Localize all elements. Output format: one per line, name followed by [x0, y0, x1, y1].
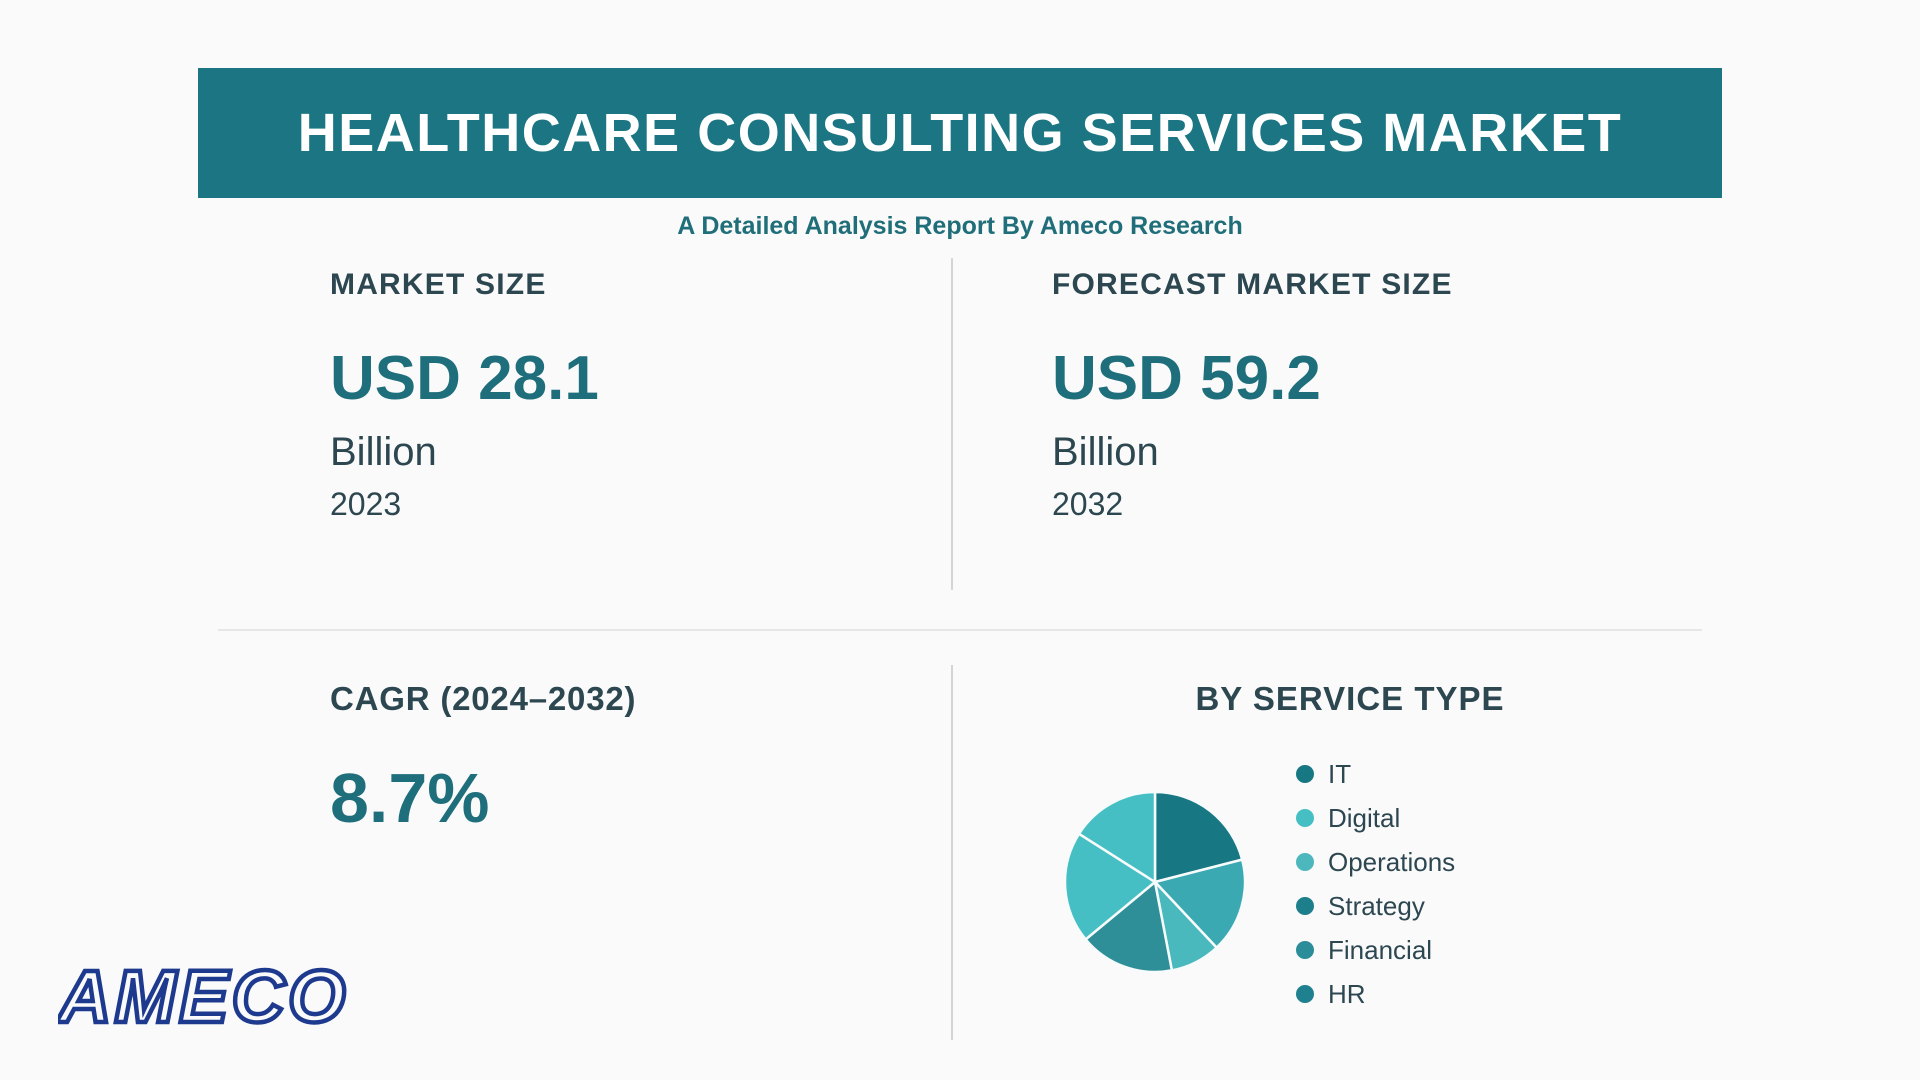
vertical-divider-bottom — [951, 665, 953, 1040]
legend-color-dot-icon — [1296, 985, 1314, 1003]
legend-color-dot-icon — [1296, 809, 1314, 827]
legend-item: HR — [1296, 976, 1455, 1012]
forecast-market-size-value: USD 59.2 — [1052, 348, 1672, 410]
stat-forecast-market-size: FORECAST MARKET SIZE USD 59.2 Billion 20… — [1052, 268, 1672, 523]
ameco-logo: AMECO — [58, 960, 478, 1038]
service-type-pie-chart — [1062, 789, 1248, 975]
legend-label: Strategy — [1328, 891, 1425, 922]
legend-item: Financial — [1296, 932, 1455, 968]
forecast-market-size-year: 2032 — [1052, 486, 1672, 523]
report-subtitle: A Detailed Analysis Report By Ameco Rese… — [0, 212, 1920, 241]
service-type-section: BY SERVICE TYPE ITDigitalOperationsStrat… — [1000, 680, 1740, 1012]
stat-market-size: MARKET SIZE USD 28.1 Billion 2023 — [330, 268, 950, 523]
service-type-heading: BY SERVICE TYPE — [1050, 680, 1650, 718]
ameco-logo-text: AMECO — [58, 960, 348, 1038]
legend-color-dot-icon — [1296, 897, 1314, 915]
market-size-label: MARKET SIZE — [330, 268, 950, 302]
forecast-market-size-unit: Billion — [1052, 430, 1672, 474]
infographic-canvas: HEALTHCARE CONSULTING SERVICES MARKET A … — [0, 0, 1920, 1080]
legend-color-dot-icon — [1296, 941, 1314, 959]
legend-item: Strategy — [1296, 888, 1455, 924]
legend-label: HR — [1328, 979, 1366, 1010]
legend-label: Digital — [1328, 803, 1400, 834]
legend-label: Operations — [1328, 847, 1455, 878]
title-bar: HEALTHCARE CONSULTING SERVICES MARKET — [198, 68, 1722, 198]
legend-color-dot-icon — [1296, 853, 1314, 871]
legend-item: Digital — [1296, 800, 1455, 836]
market-size-unit: Billion — [330, 430, 950, 474]
horizontal-divider — [218, 629, 1702, 631]
legend-label: Financial — [1328, 935, 1432, 966]
legend-item: Operations — [1296, 844, 1455, 880]
pie-row: ITDigitalOperationsStrategyFinancialHR — [1000, 752, 1740, 1012]
legend-item: IT — [1296, 756, 1455, 792]
stat-cagr: CAGR (2024–2032) 8.7% — [330, 680, 950, 833]
legend-label: IT — [1328, 759, 1351, 790]
market-size-year: 2023 — [330, 486, 950, 523]
market-size-value: USD 28.1 — [330, 348, 950, 410]
legend-color-dot-icon — [1296, 765, 1314, 783]
page-title: HEALTHCARE CONSULTING SERVICES MARKET — [298, 102, 1623, 164]
forecast-market-size-label: FORECAST MARKET SIZE — [1052, 268, 1672, 302]
pie-legend: ITDigitalOperationsStrategyFinancialHR — [1296, 752, 1455, 1012]
vertical-divider-top — [951, 258, 953, 590]
cagr-value: 8.7% — [330, 763, 950, 833]
cagr-label: CAGR (2024–2032) — [330, 680, 950, 718]
